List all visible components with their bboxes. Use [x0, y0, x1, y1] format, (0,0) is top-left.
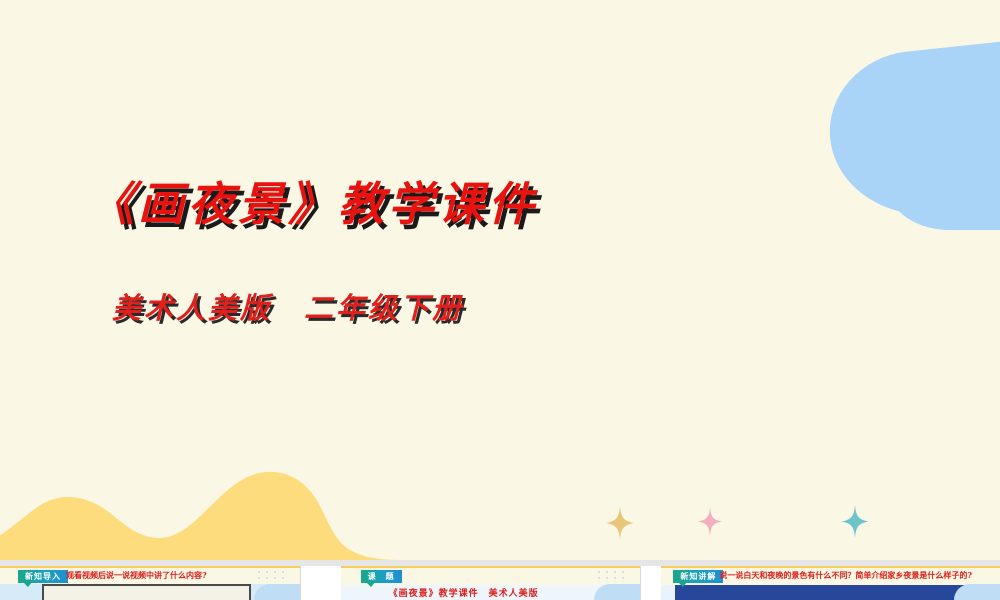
thumb-1-badge: 新知导入	[18, 570, 68, 583]
yellow-hill-decoration	[0, 450, 400, 560]
dot-grid-decoration	[256, 569, 290, 582]
dot-grid-decoration	[596, 569, 630, 582]
thumb-1-question: 观看视频后说一说视频中讲了什么内容?	[66, 570, 207, 581]
thumb-3-badge: 新知讲解	[673, 570, 723, 583]
thumb-accent-line	[661, 566, 1000, 568]
slide-title: 《画夜景》教学课件	[88, 168, 538, 234]
thumb-gap-2	[641, 566, 661, 600]
slide-thumbnail-strip: 新知导入 观看视频后说一说视频中讲了什么内容? 课 题 《画夜景》教学课件 美术…	[0, 566, 1000, 600]
thumb-gap-1	[301, 566, 341, 600]
blue-blob-decoration-secondary	[890, 150, 1000, 230]
thumb-3-image-block	[675, 585, 975, 600]
thumb-2-title-line: 《画夜景》教学课件 美术人美版	[389, 586, 539, 599]
slide-thumb-3[interactable]: 新知讲解 说一说白天和夜晚的景色有什么不同？简单介绍家乡夜景是什么样子的?	[661, 566, 1000, 600]
thumb-corner-shape	[594, 584, 640, 600]
thumb-accent-line	[0, 566, 300, 568]
sparkle-teal-icon	[841, 505, 869, 538]
presentation-window: 《画夜景》教学课件 美术人美版 二年级下册 新知导入 观看视频后说一说视频中讲了…	[0, 0, 1000, 600]
slide-thumb-1[interactable]: 新知导入 观看视频后说一说视频中讲了什么内容?	[0, 566, 301, 600]
thumb-3-question: 说一说白天和夜晚的景色有什么不同？简单介绍家乡夜景是什么样子的?	[719, 570, 972, 581]
slide-subtitle: 美术人美版 二年级下册	[112, 285, 464, 327]
thumb-accent-line	[341, 566, 641, 568]
slide-canvas[interactable]: 《画夜景》教学课件 美术人美版 二年级下册	[0, 0, 1000, 560]
slide-thumb-2[interactable]: 课 题 《画夜景》教学课件 美术人美版	[341, 566, 642, 600]
sparkle-yellow-icon	[606, 506, 634, 540]
thumb-corner-shape	[954, 584, 1000, 600]
video-player-frame	[42, 584, 251, 600]
thumb-corner-shape	[254, 584, 300, 600]
thumb-2-badge: 课 题	[361, 570, 402, 583]
sparkle-pink-icon	[698, 507, 722, 536]
